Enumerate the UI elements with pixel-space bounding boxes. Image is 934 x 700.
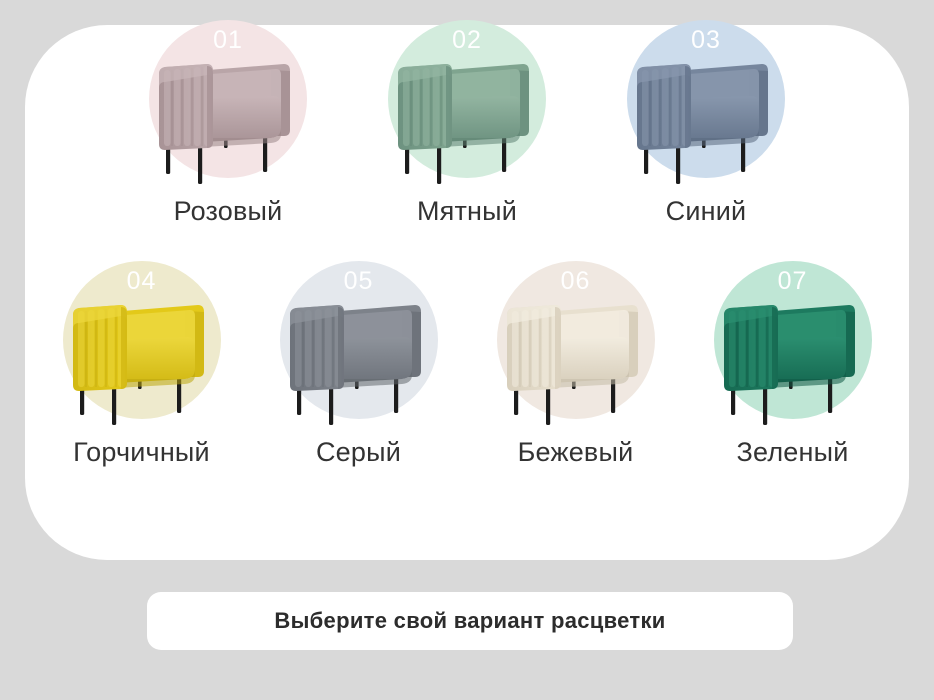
color-name-label: Горчичный (73, 437, 210, 468)
color-thumbnail: 05 (257, 253, 460, 435)
color-name-label: Мятный (417, 196, 517, 227)
color-number: 05 (344, 269, 374, 294)
armchair-icon (623, 50, 789, 186)
color-number: 06 (561, 269, 591, 294)
color-option-03[interactable]: 03 (605, 12, 808, 227)
color-option-02[interactable]: 02 (366, 12, 569, 227)
color-option-01[interactable]: 01 (127, 12, 330, 227)
color-option-04[interactable]: 04 (40, 253, 243, 468)
armchair-icon (59, 291, 225, 427)
color-option-05[interactable]: 05 (257, 253, 460, 468)
swatch-row-bottom: 04 (0, 253, 934, 468)
color-number: 03 (691, 28, 721, 53)
color-thumbnail: 03 (605, 12, 808, 194)
color-number: 04 (127, 269, 157, 294)
armchair-icon (710, 291, 876, 427)
color-number: 07 (778, 269, 808, 294)
color-number: 02 (452, 28, 482, 53)
swatch-row-top: 01 (0, 12, 934, 227)
armchair-icon (384, 50, 550, 186)
color-thumbnail: 06 (474, 253, 677, 435)
armchair-icon (276, 291, 442, 427)
color-option-06[interactable]: 06 (474, 253, 677, 468)
color-number: 01 (213, 28, 243, 53)
color-thumbnail: 04 (40, 253, 243, 435)
color-thumbnail: 02 (366, 12, 569, 194)
armchair-icon (493, 291, 659, 427)
color-name-label: Зеленый (737, 437, 849, 468)
choose-color-button[interactable]: Выберите свой вариант расцветки (147, 592, 793, 650)
color-name-label: Серый (316, 437, 401, 468)
color-name-label: Бежевый (518, 437, 634, 468)
color-thumbnail: 01 (127, 12, 330, 194)
armchair-icon (145, 50, 311, 186)
color-name-label: Розовый (174, 196, 283, 227)
color-name-label: Синий (666, 196, 747, 227)
color-thumbnail: 07 (691, 253, 894, 435)
color-option-07[interactable]: 07 (691, 253, 894, 468)
